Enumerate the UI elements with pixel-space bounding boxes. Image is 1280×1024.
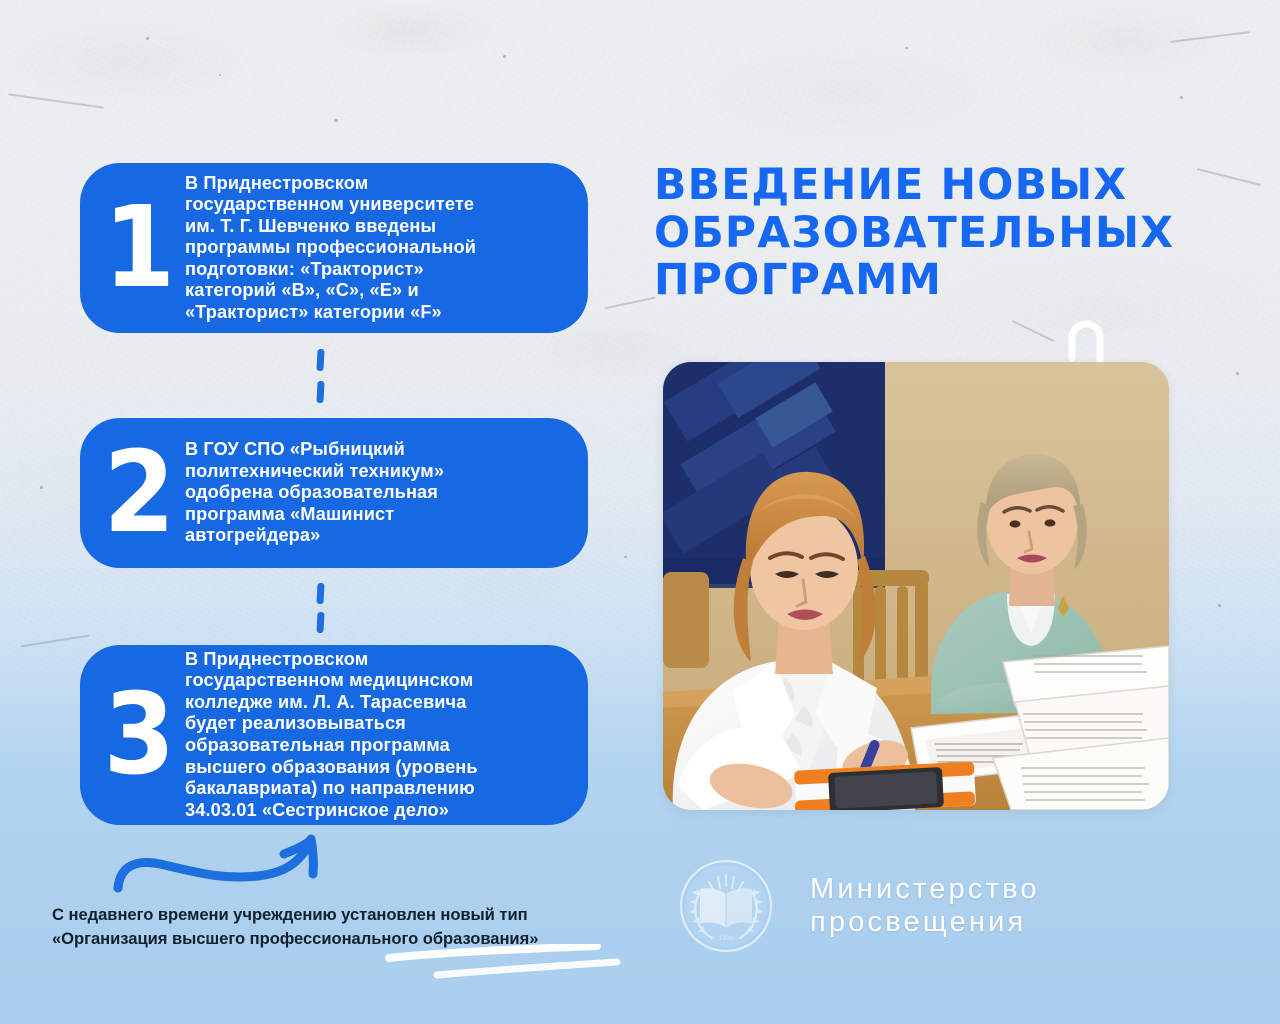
step-number-3: 3 [94,686,181,785]
step-text-2: В ГОУ СПО «Рыбницкий политехнический тех… [185,439,444,547]
texture-speck [1180,96,1183,99]
texture-speck [1236,372,1239,375]
ministry-emblem-icon: 1990 [678,858,774,954]
step-text-1: В Приднестровском государственном универ… [185,173,476,324]
texture-crack [1170,31,1250,43]
texture-speck [40,486,43,489]
step-number-1: 1 [94,199,181,298]
texture-speck [334,119,338,122]
texture-speck [905,47,908,49]
texture-speck [1218,604,1221,607]
texture-speck [219,74,221,76]
infographic-poster: 1 В Приднестровском государственном унив… [0,0,1280,1024]
brush-underline [385,944,635,990]
step-card-3: 3 В Приднестровском государственном меди… [80,645,588,825]
svg-text:1990: 1990 [718,935,733,942]
step-number-2: 2 [94,444,181,543]
step-card-1: 1 В Приднестровском государственном унив… [80,163,588,333]
texture-crack [8,93,103,108]
meeting-photo [663,362,1169,810]
dashed-connector [316,612,324,633]
page-title: ВВЕДЕНИЕ НОВЫХ ОБРАЗОВАТЕЛЬНЫХ ПРОГРАММ [654,162,1254,305]
texture-crack [604,297,655,310]
step-text-3: В Приднестровском государственном медици… [185,649,478,822]
texture-speck [503,55,506,58]
texture-crack [20,635,89,648]
texture-speck [146,37,149,40]
dashed-connector [316,583,324,604]
dashed-connector [316,349,324,371]
dashed-connector [316,381,324,403]
curved-arrow-icon [108,826,338,896]
ministry-lockup: 1990 Министерство просвещения [678,858,1040,954]
texture-crack [1012,320,1054,342]
texture-speck [624,556,627,558]
step-card-2: 2 В ГОУ СПО «Рыбницкий политехнический т… [80,418,588,568]
ministry-name: Министерство просвещения [810,873,1040,939]
